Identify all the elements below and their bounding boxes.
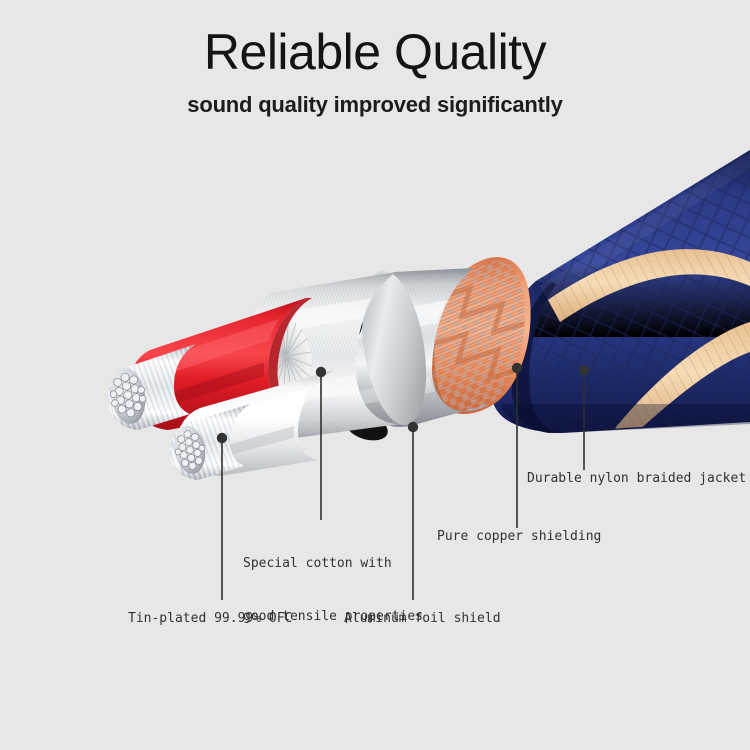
callout-label-aluminum-foil-shield: Aluminum foil shield bbox=[344, 610, 501, 628]
callout-label-pure-copper-shielding: Pure copper shielding bbox=[437, 528, 601, 546]
callout-label-tin-plated-ofc: Tin-plated 99.99% OFC bbox=[128, 610, 292, 628]
nylon-braided-jacket-layer bbox=[491, 150, 750, 433]
leader-dot-nylon-braided-jacket bbox=[579, 365, 589, 375]
leader-dot-tin-plated-ofc bbox=[217, 433, 227, 443]
product-infographic: Reliable Quality sound quality improved … bbox=[0, 0, 750, 750]
leader-dot-special-cotton bbox=[316, 367, 326, 377]
callout-label-special-cotton: Special cotton with good tensile propert… bbox=[243, 520, 423, 660]
leader-dot-pure-copper-shielding bbox=[512, 363, 522, 373]
leader-dot-aluminum-foil-shield bbox=[408, 422, 418, 432]
callout-label-special-cotton-line1: Special cotton with bbox=[243, 555, 423, 573]
callout-label-durable-nylon-braided-jacket: Durable nylon braided jacket bbox=[527, 470, 746, 488]
